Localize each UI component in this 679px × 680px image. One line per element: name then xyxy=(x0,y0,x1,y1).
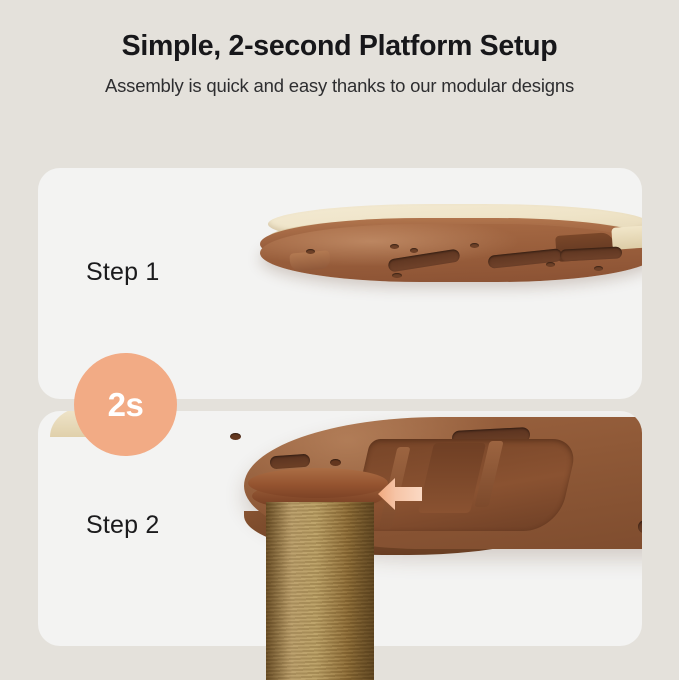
screw-hole xyxy=(306,249,315,254)
duration-badge: 2s xyxy=(74,353,177,456)
post-collar xyxy=(248,468,388,498)
screw-hole xyxy=(410,248,418,253)
page-title: Simple, 2-second Platform Setup xyxy=(0,28,679,65)
screw-hole xyxy=(594,266,603,271)
duration-badge-label: 2s xyxy=(108,388,144,421)
page-subtitle: Assembly is quick and easy thanks to our… xyxy=(0,75,679,97)
screw-hole xyxy=(230,433,241,440)
screw-hole xyxy=(546,262,555,267)
screw-hole xyxy=(392,273,402,278)
mounting-slot xyxy=(270,454,311,470)
screw-hole xyxy=(390,244,399,249)
screw-hole xyxy=(470,243,479,248)
screw-hole xyxy=(330,459,341,466)
platform-board-exploded xyxy=(260,204,642,290)
arrow-left-icon xyxy=(378,478,422,510)
sisal-rope-wrap xyxy=(266,502,374,680)
header: Simple, 2-second Platform Setup Assembly… xyxy=(0,0,679,97)
